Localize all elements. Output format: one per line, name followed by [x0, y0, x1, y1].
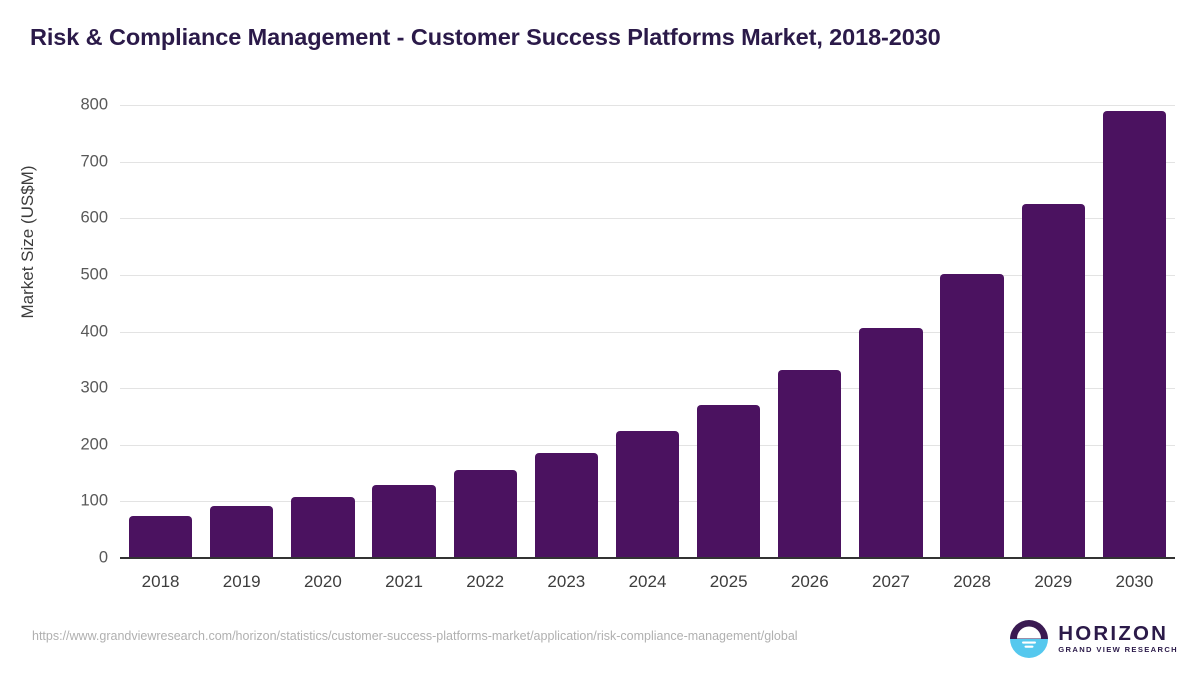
- bar-slot: [282, 105, 363, 558]
- bar-2029[interactable]: [1022, 204, 1085, 558]
- y-axis-tick-label: 0: [99, 549, 108, 568]
- x-axis-tick-label: 2019: [201, 572, 282, 592]
- bar-slot: [201, 105, 282, 558]
- x-axis-tick-label: 2018: [120, 572, 201, 592]
- y-axis-tick-label: 100: [80, 492, 108, 511]
- y-axis-tick-label: 300: [80, 379, 108, 398]
- bar-slot: [120, 105, 201, 558]
- bar-2023[interactable]: [535, 453, 598, 558]
- x-axis-tick-label: 2029: [1013, 572, 1094, 592]
- bar-2020[interactable]: [291, 497, 354, 558]
- y-axis-title: Market Size (US$M): [18, 62, 38, 422]
- bar-2024[interactable]: [616, 431, 679, 558]
- x-axis-line: [120, 557, 1175, 559]
- x-axis-tick-label: 2021: [363, 572, 444, 592]
- bar-2021[interactable]: [372, 485, 435, 558]
- page-title: Risk & Compliance Management - Customer …: [30, 24, 941, 51]
- bar-2030[interactable]: [1103, 111, 1166, 558]
- x-axis-tick-label: 2026: [769, 572, 850, 592]
- bar-slot: [445, 105, 526, 558]
- bar-slot: [1013, 105, 1094, 558]
- source-url[interactable]: https://www.grandviewresearch.com/horizo…: [32, 628, 962, 645]
- bar-slot: [769, 105, 850, 558]
- x-axis-tick-labels: 2018201920202021202220232024202520262027…: [120, 572, 1175, 600]
- logo-tagline: GRAND VIEW RESEARCH: [1058, 644, 1178, 655]
- logo-wordmark: HORIZON: [1058, 623, 1178, 644]
- y-axis-tick-label: 500: [80, 265, 108, 284]
- bar-series: [120, 105, 1175, 558]
- bar-slot: [526, 105, 607, 558]
- y-axis-tick-label: 700: [80, 152, 108, 171]
- x-axis-tick-label: 2028: [932, 572, 1013, 592]
- x-axis-tick-label: 2023: [526, 572, 607, 592]
- logo-text-block: HORIZON GRAND VIEW RESEARCH: [1058, 623, 1178, 655]
- horizon-logo-icon: [1009, 619, 1049, 659]
- x-axis-tick-label: 2030: [1094, 572, 1175, 592]
- bar-slot: [363, 105, 444, 558]
- brand-logo: HORIZON GRAND VIEW RESEARCH: [1009, 619, 1178, 659]
- chart-page: Risk & Compliance Management - Customer …: [0, 0, 1200, 675]
- bar-slot: [850, 105, 931, 558]
- bar-2019[interactable]: [210, 506, 273, 558]
- y-axis-tick-labels: 0100200300400500600700800: [40, 105, 108, 558]
- bar-slot: [607, 105, 688, 558]
- bar-2022[interactable]: [454, 470, 517, 558]
- bar-slot: [1094, 105, 1175, 558]
- y-axis-tick-label: 400: [80, 322, 108, 341]
- bar-2018[interactable]: [129, 516, 192, 558]
- bar-2026[interactable]: [778, 370, 841, 558]
- x-axis-tick-label: 2025: [688, 572, 769, 592]
- bar-2025[interactable]: [697, 405, 760, 558]
- bar-2028[interactable]: [940, 274, 1003, 558]
- bar-slot: [688, 105, 769, 558]
- x-axis-tick-label: 2022: [445, 572, 526, 592]
- bar-slot: [932, 105, 1013, 558]
- y-axis-tick-label: 800: [80, 96, 108, 115]
- x-axis-tick-label: 2020: [282, 572, 363, 592]
- y-axis-tick-label: 200: [80, 435, 108, 454]
- bar-2027[interactable]: [859, 328, 922, 558]
- y-axis-tick-label: 600: [80, 209, 108, 228]
- x-axis-tick-label: 2024: [607, 572, 688, 592]
- x-axis-tick-label: 2027: [850, 572, 931, 592]
